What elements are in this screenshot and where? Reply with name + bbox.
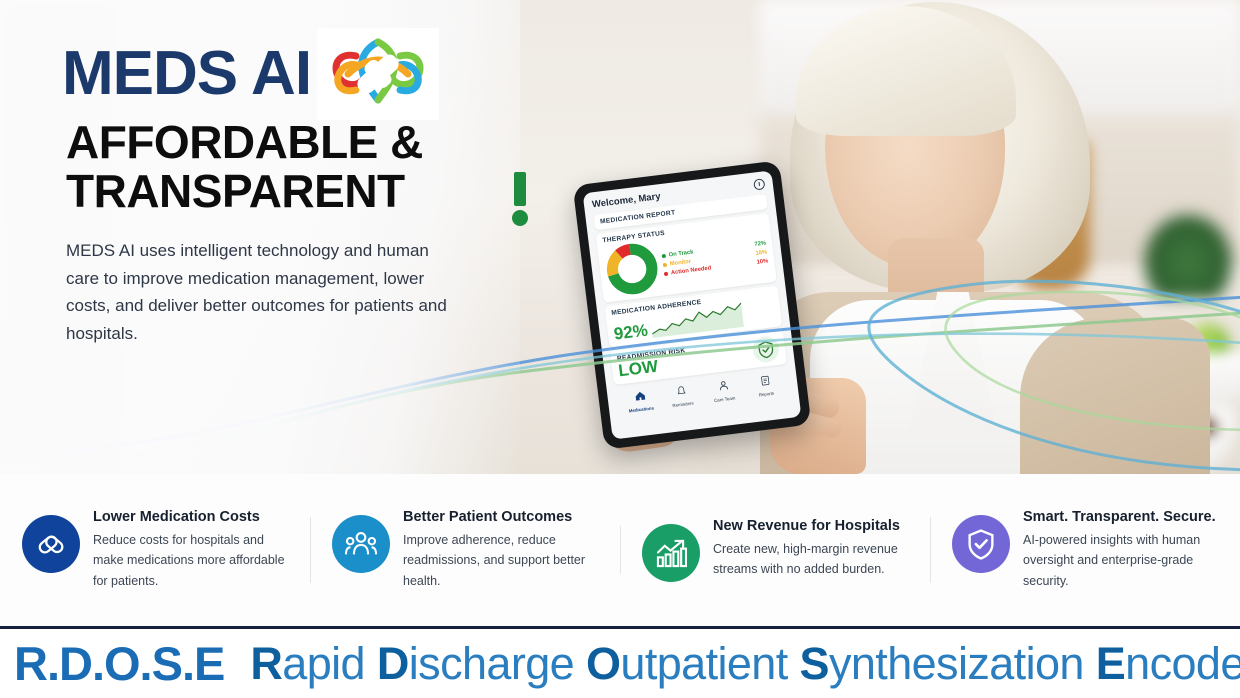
nav-label: Reports [745, 389, 787, 399]
word-initial: O [586, 638, 620, 689]
hero-section: Welcome, Mary MEDICATION REPORT THERAPY … [0, 0, 1240, 474]
legend-dot [663, 263, 667, 267]
feature-card-lower-medication-costs[interactable]: Lower Medication Costs Reduce costs for … [0, 509, 310, 591]
legend-label: Action Needed [671, 265, 712, 276]
word-rest: utpatient [620, 638, 787, 689]
nav-label: Reminders [662, 399, 704, 409]
arm [1020, 318, 1210, 474]
legend-dot [662, 254, 666, 258]
nav-item-reminders[interactable]: Reminders [660, 380, 705, 409]
brand-lockup: MEDS AI [62, 28, 439, 120]
pill-icon [22, 515, 80, 573]
interlocking-knot-bandage-logo [326, 34, 430, 114]
home-icon [634, 390, 646, 401]
rdose-acronym: R.D.O.S.E [14, 636, 224, 691]
nav-item-medications[interactable]: Medications [618, 386, 663, 415]
footer-bar: R.D.O.S.E Rapid Discharge Outpatient Syn… [0, 626, 1240, 698]
legend-value: 18% [755, 249, 767, 256]
feature-desc: Improve adherence, reduce readmissions, … [403, 530, 604, 591]
nav-item-reports[interactable]: Reports [743, 370, 788, 399]
people-icon [717, 380, 729, 391]
therapy-donut-chart [603, 240, 661, 298]
people-group-icon [332, 515, 390, 573]
adherence-value: 92% [613, 322, 649, 343]
shield-check-icon [952, 515, 1010, 573]
brand-name: MEDS AI [62, 43, 311, 105]
feature-title: Smart. Transparent. Secure. [1023, 509, 1224, 525]
word-initial: S [800, 638, 829, 689]
headline-line-2: TRANSPARENT [66, 167, 423, 216]
feature-desc: Reduce costs for hospitals and make medi… [93, 530, 294, 591]
feature-text: Lower Medication Costs Reduce costs for … [93, 509, 294, 591]
legend-value: 10% [756, 258, 768, 265]
feature-desc: Create new, high-margin revenue streams … [713, 539, 914, 580]
feature-title: New Revenue for Hospitals [713, 518, 914, 534]
hero-subcopy: MEDS AI uses intelligent technology and … [66, 237, 456, 347]
word-initial: E [1096, 638, 1125, 689]
therapy-legend: On Track 72% Monitor 18% Action Needed [661, 238, 769, 279]
shield-check-icon [751, 335, 780, 364]
page-title: AFFORDABLE & TRANSPARENT [66, 118, 423, 216]
exclamation-mark [505, 170, 535, 233]
word-rest: ynthesization [829, 638, 1084, 689]
tablet-device[interactable]: Welcome, Mary MEDICATION REPORT THERAPY … [573, 160, 812, 449]
bell-icon [676, 385, 687, 396]
word-rest: ischarge [409, 638, 574, 689]
headline-line-1: AFFORDABLE & [66, 118, 423, 167]
nav-item-care-team[interactable]: Care Team [701, 375, 746, 404]
word-rest: ncoder [1125, 638, 1240, 689]
feature-card-better-patient-outcomes[interactable]: Better Patient Outcomes Improve adherenc… [310, 509, 620, 591]
nav-label: Care Team [704, 394, 746, 404]
marketing-slide: Welcome, Mary MEDICATION REPORT THERAPY … [0, 0, 1240, 698]
rdose-expansion: Rapid Discharge Outpatient Synthesizatio… [250, 638, 1240, 690]
nav-label: Medications [620, 404, 662, 414]
report-icon [760, 375, 770, 386]
tablet-screen[interactable]: Welcome, Mary MEDICATION REPORT THERAPY … [583, 170, 802, 439]
feature-text: Better Patient Outcomes Improve adherenc… [403, 509, 604, 591]
feature-text: New Revenue for Hospitals Create new, hi… [713, 518, 914, 580]
legend-dot [664, 271, 668, 275]
feature-card-smart-transparent-secure[interactable]: Smart. Transparent. Secure. AI-powered i… [930, 509, 1240, 591]
word-initial: D [377, 638, 409, 689]
brand-logo [317, 28, 439, 120]
feature-title: Better Patient Outcomes [403, 509, 604, 525]
clock-icon[interactable] [753, 178, 765, 190]
word-initial: R [250, 638, 282, 689]
feature-card-new-revenue-for-hospitals[interactable]: New Revenue for Hospitals Create new, hi… [620, 518, 930, 582]
legend-value: 72% [754, 241, 766, 248]
legend-label: On Track [668, 250, 693, 259]
feature-text: Smart. Transparent. Secure. AI-powered i… [1023, 509, 1224, 591]
feature-desc: AI-powered insights with human oversight… [1023, 530, 1224, 591]
feature-strip: Lower Medication Costs Reduce costs for … [0, 474, 1240, 626]
growth-chart-icon [642, 524, 700, 582]
word-rest: apid [282, 638, 365, 689]
legend-label: Monitor [670, 259, 692, 268]
feature-title: Lower Medication Costs [93, 509, 294, 525]
